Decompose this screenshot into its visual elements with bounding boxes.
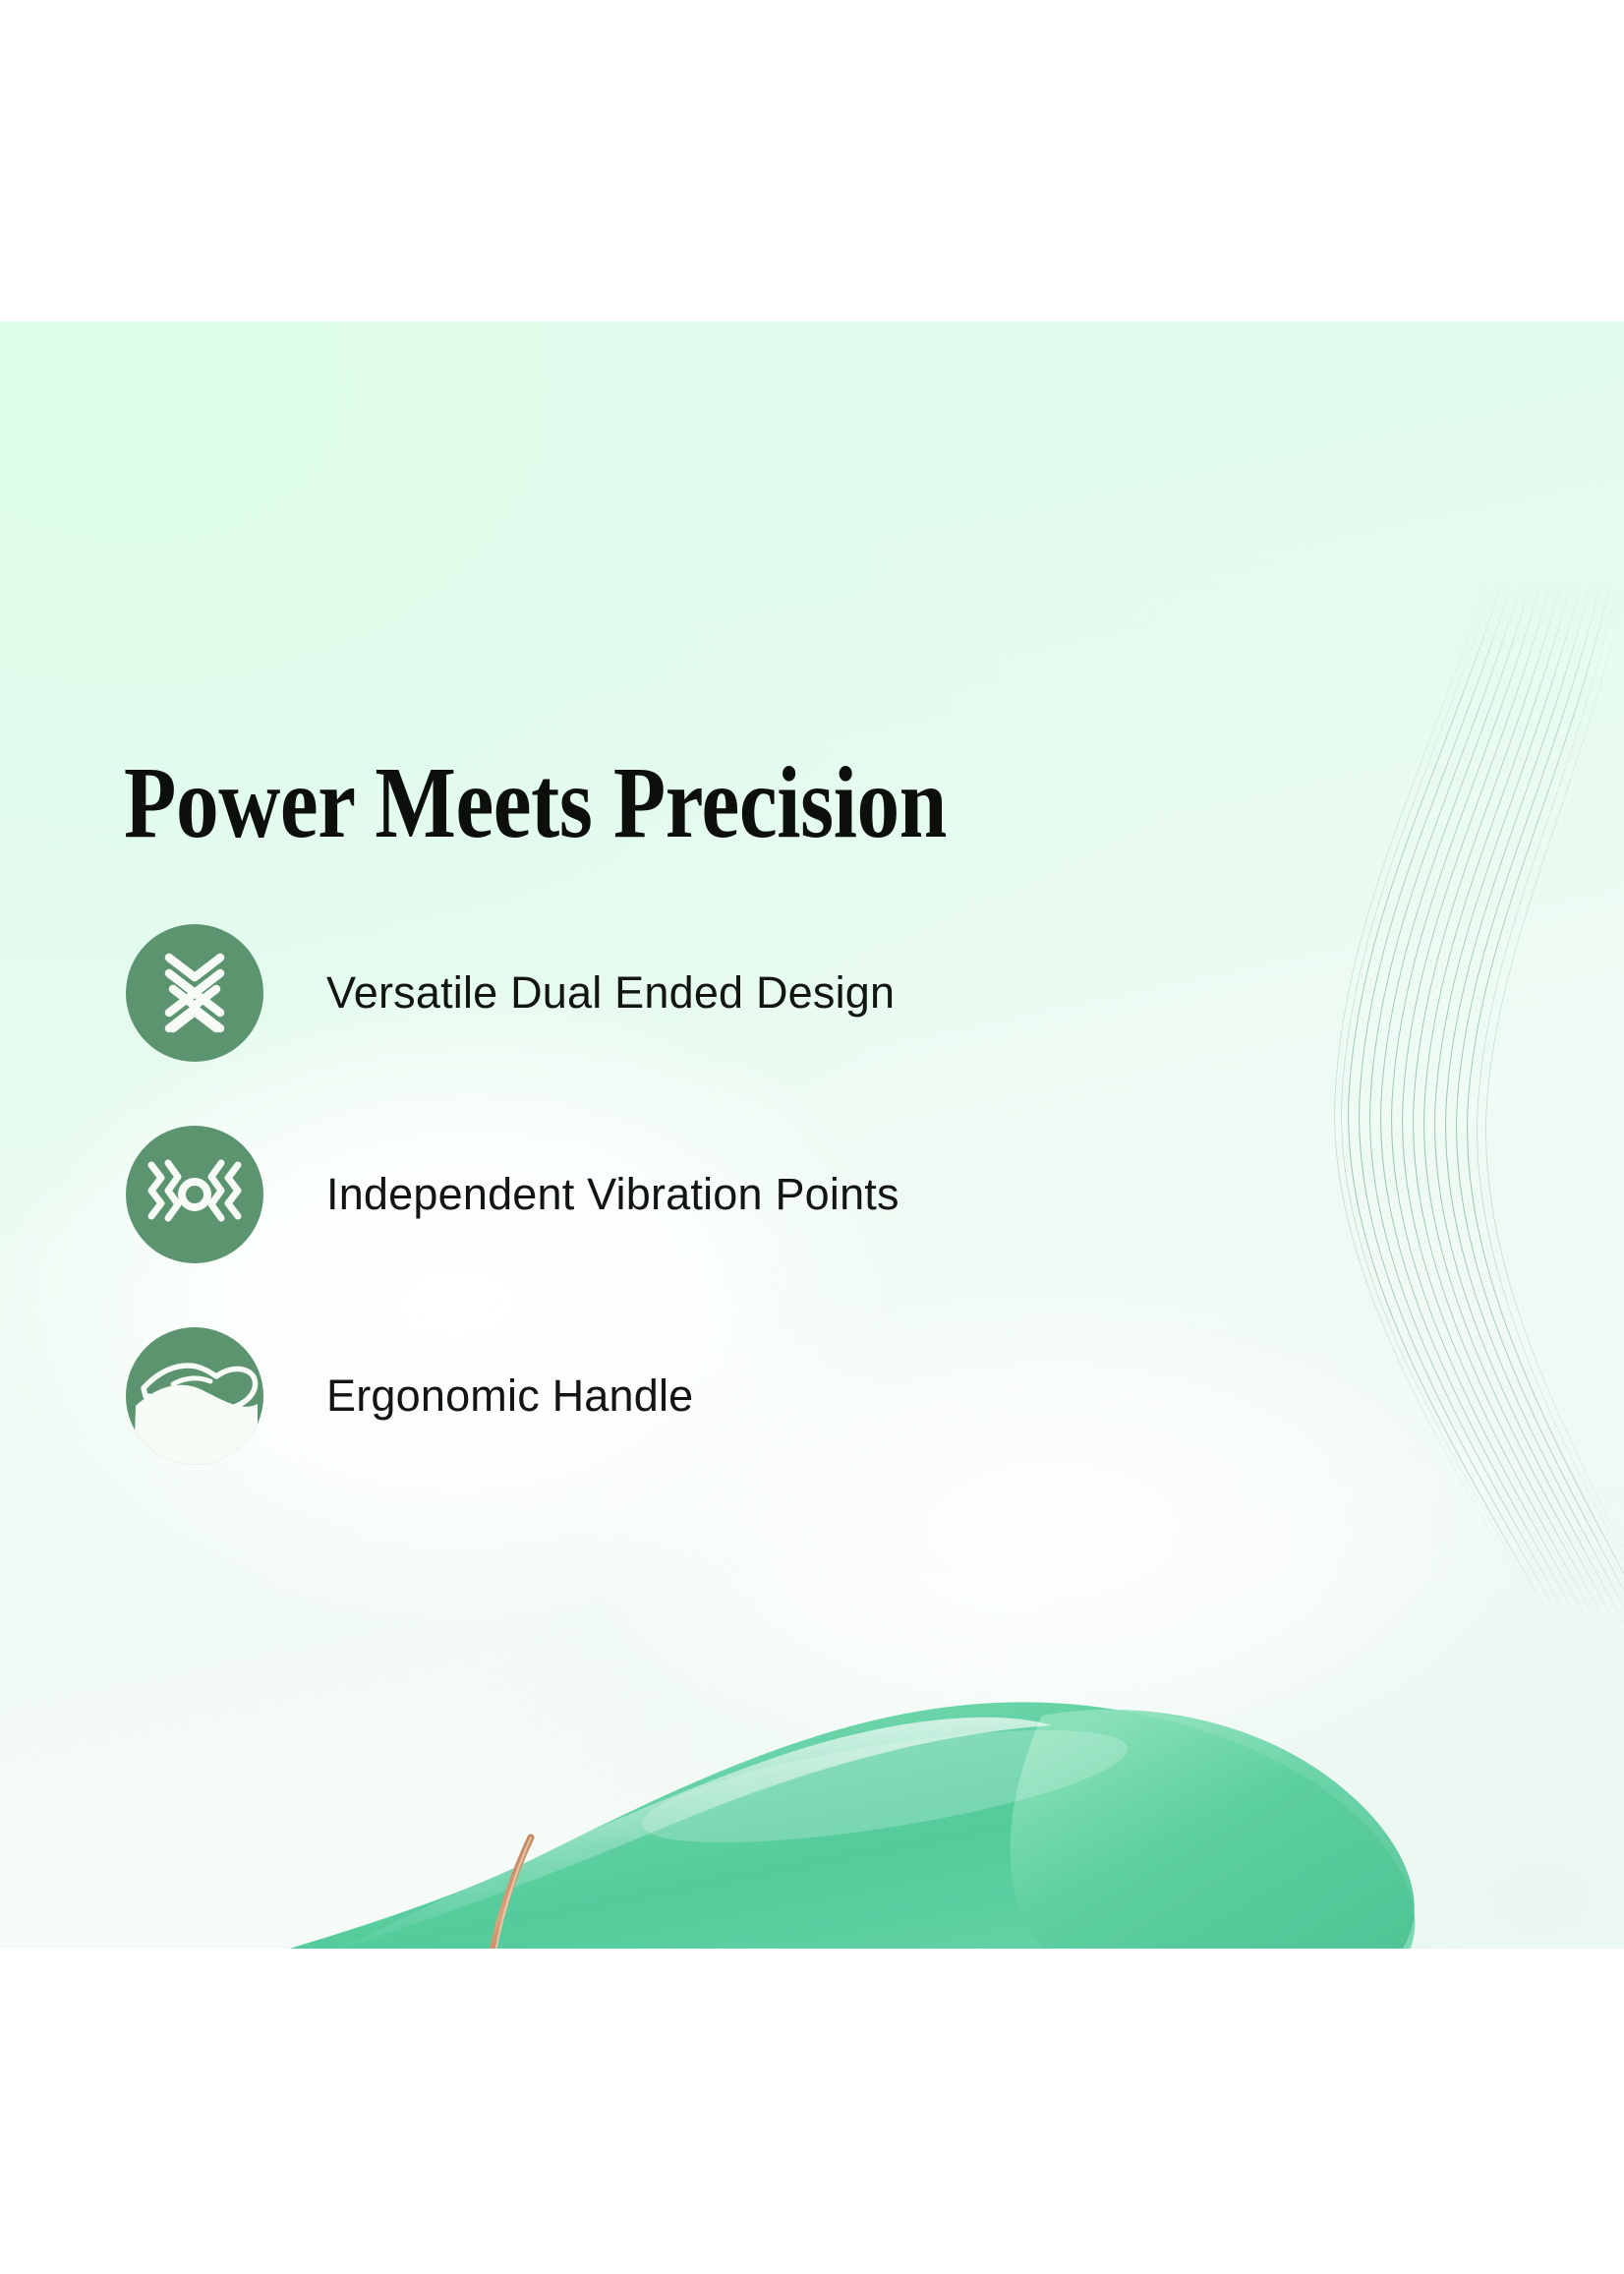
vibration-waves-icon — [126, 1126, 263, 1263]
feature-item-ergonomic-handle: Ergonomic Handle — [126, 1326, 1207, 1466]
feature-list: Versatile Dual Ended Design Independen — [126, 923, 1207, 1466]
content-panel: Power Meets Precision — [0, 321, 1624, 1949]
feature-label: Ergonomic Handle — [326, 1370, 693, 1422]
feature-label: Versatile Dual Ended Design — [326, 967, 895, 1019]
feature-item-dual-ended: Versatile Dual Ended Design — [126, 923, 1207, 1063]
hand-handle-icon — [126, 1327, 263, 1465]
fine-line-wave-ribbon — [1211, 587, 1624, 1649]
double-chevron-icon — [126, 924, 263, 1062]
feature-label: Independent Vibration Points — [326, 1169, 899, 1220]
page-title: Power Meets Precision — [124, 752, 947, 854]
feature-item-vibration-points: Independent Vibration Points — [126, 1125, 1207, 1264]
product-feature-banner: Power Meets Precision — [0, 0, 1624, 2274]
dual-ended-massager — [0, 1462, 1624, 1949]
